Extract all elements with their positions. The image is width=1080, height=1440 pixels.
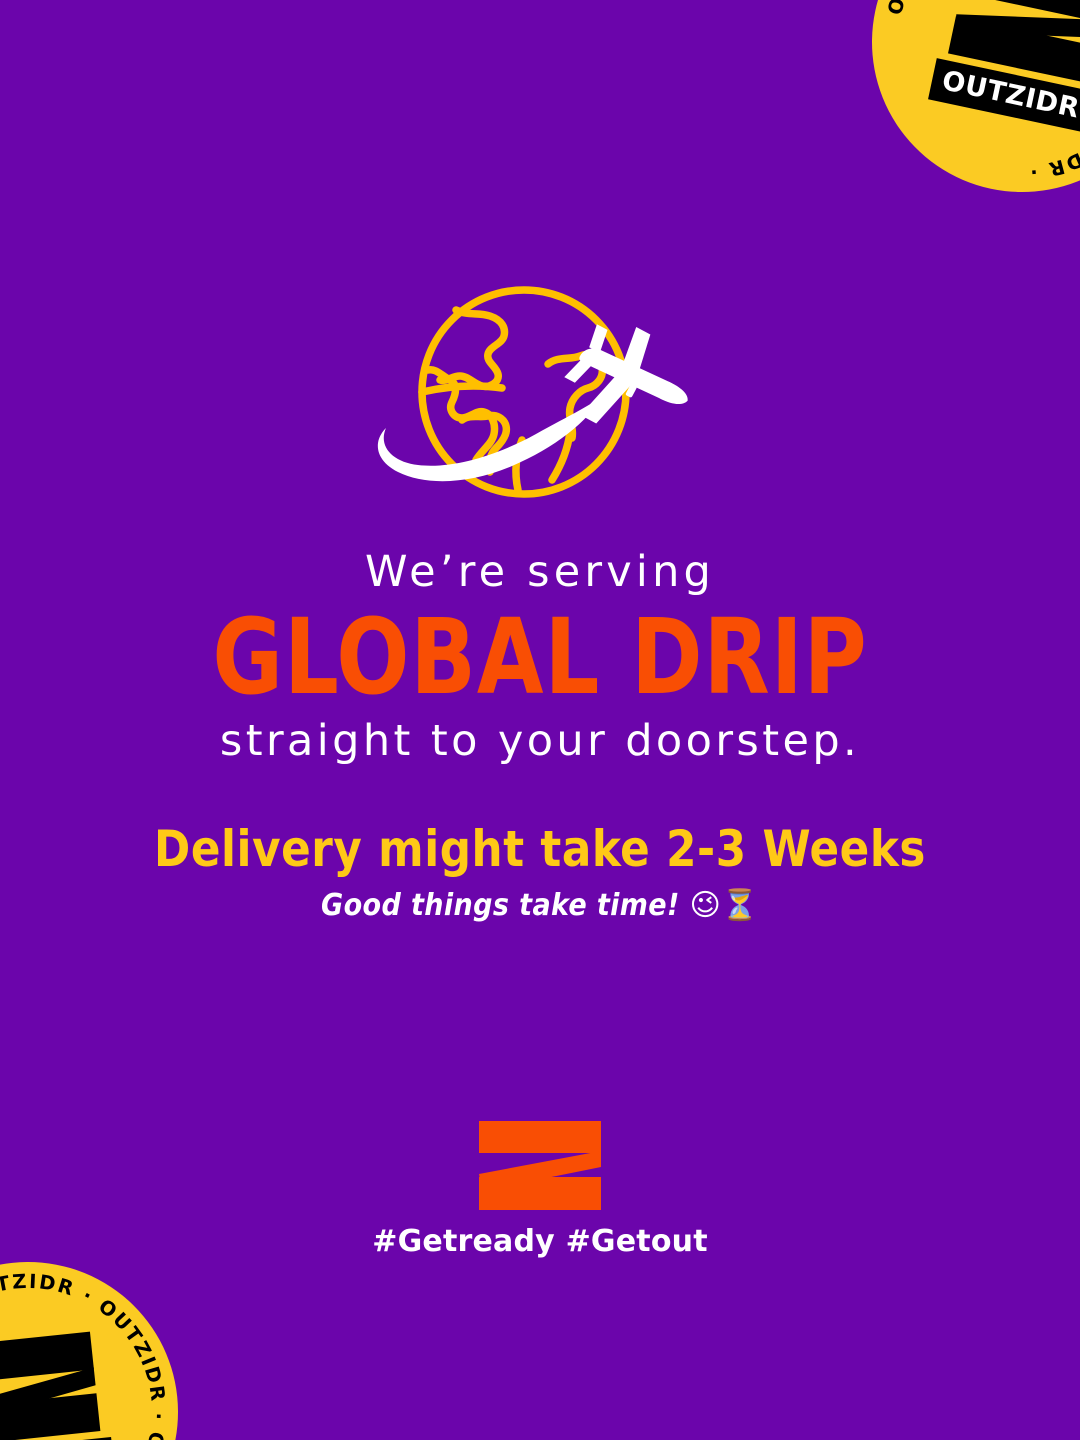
z-logo-icon — [477, 1120, 603, 1212]
delivery-subnote-text: Good things take time! — [321, 888, 689, 923]
footer-brand-block: #Getready #Getout — [0, 1120, 1080, 1258]
poster-canvas: OUTZIDR · OUTZIDR · OUTZIDR · OUTZIDR · … — [0, 0, 1080, 1440]
globe-airplane-illustration — [356, 272, 716, 512]
subhead-text: straight to your doorstep. — [0, 716, 1080, 767]
delivery-notice-text: Delivery might take 2-3 Weeks — [16, 822, 1064, 877]
delivery-subnote: Good things take time! 😉⏳ — [0, 889, 1080, 924]
wink-hourglass-emoji: 😉⏳ — [690, 888, 759, 923]
page-title: GLOBAL DRIP — [43, 608, 1037, 708]
badge-outzidr-bottom-left: OUTZIDR · OUTZIDR · OUTZIDR · OUTZIDR · … — [0, 1247, 193, 1440]
badge-outzidr-top-right: OUTZIDR · OUTZIDR · OUTZIDR · OUTZIDR · … — [844, 0, 1080, 220]
z-logo-icon — [0, 1329, 107, 1440]
globe-icon — [422, 290, 626, 494]
eyebrow-text: We’re serving — [0, 548, 1080, 598]
hashtags-text: #Getready #Getout — [372, 1225, 707, 1258]
badge-core-bottom-left: OUTZIDR — [0, 1328, 120, 1440]
headline-copy-block: We’re serving GLOBAL DRIP straight to yo… — [0, 548, 1080, 766]
delivery-notice-block: Delivery might take 2-3 Weeks Good thing… — [0, 822, 1080, 924]
